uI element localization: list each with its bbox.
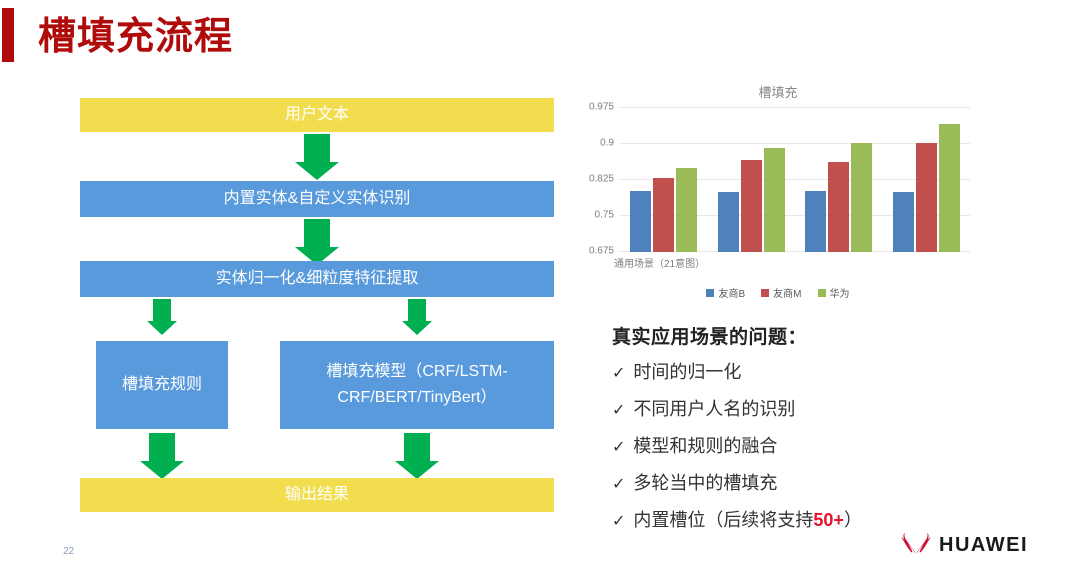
flow-node-output: 输出结果 [80, 478, 554, 512]
flow-arrow-down-4-right [395, 299, 439, 337]
flow-node-label: 槽填充规则 [122, 374, 202, 396]
chart-legend-item[interactable]: 友商B [706, 285, 745, 300]
chart-legend-label: 华为 [830, 285, 850, 300]
brand-wordmark: HUAWEI [939, 534, 1028, 557]
chart-bar-group [795, 108, 883, 252]
issue-item-label: 不同用户人名的识别 [633, 396, 795, 422]
chart-bar [630, 191, 651, 252]
slot-filling-bar-chart: 槽填充 0.9750.90.8250.750.675 通用场景（21意图） 友商… [578, 82, 978, 300]
issue-list-item: ✓时间的归一化 [612, 359, 1042, 387]
page-number: 22 [63, 546, 74, 557]
flowchart-diagram: 用户文本 内置实体&自定义实体识别 实体归一化&细粒度特征提取 槽填充规则 槽填… [0, 0, 570, 573]
chart-bar-group [708, 108, 796, 252]
issue-list-item: ✓不同用户人名的识别 [612, 396, 1042, 424]
chart-legend-label: 友商M [773, 285, 801, 300]
chart-bar [828, 162, 849, 252]
flow-node-entity-recognition: 内置实体&自定义实体识别 [80, 181, 554, 217]
flow-arrow-down-3-left [140, 299, 184, 337]
issue-item-label: 时间的归一化 [633, 359, 741, 385]
check-icon: ✓ [612, 509, 625, 535]
issue-list-item: ✓模型和规则的融合 [612, 433, 1042, 461]
chart-title: 槽填充 [578, 82, 978, 101]
chart-bar [676, 168, 697, 252]
chart-bar [916, 143, 937, 252]
chart-bar [653, 178, 674, 252]
flow-node-label: 输出结果 [285, 484, 349, 506]
check-icon: ✓ [612, 361, 625, 387]
brand-logo: HUAWEI [901, 532, 1028, 559]
check-icon: ✓ [612, 398, 625, 424]
flow-node-label: 槽填充模型（CRF/LSTM-CRF/BERT/TinyBert） [286, 359, 548, 411]
chart-plot-area: 0.9750.90.8250.750.675 [620, 108, 970, 252]
issues-list: ✓时间的归一化✓不同用户人名的识别✓模型和规则的融合✓多轮当中的槽填充✓内置槽位… [612, 359, 1042, 535]
flow-arrow-down-5-left [136, 433, 188, 479]
huawei-flower-icon [901, 532, 931, 559]
chart-bar [851, 143, 872, 252]
flow-node-normalization: 实体归一化&细粒度特征提取 [80, 261, 554, 297]
chart-bar [939, 124, 960, 252]
chart-bar-group [883, 108, 971, 252]
slide-canvas: 槽填充流程 用户文本 内置实体&自定义实体识别 实体归一化&细粒度特征提取 槽填… [0, 0, 1074, 573]
chart-legend-item[interactable]: 华为 [818, 285, 850, 300]
flow-node-slot-rules: 槽填充规则 [96, 341, 228, 429]
issue-highlight: 50+ [813, 510, 844, 530]
issues-heading: 真实应用场景的问题： [612, 322, 1042, 349]
chart-legend-item[interactable]: 友商M [761, 285, 801, 300]
chart-bar [764, 148, 785, 252]
flow-node-label: 内置实体&自定义实体识别 [224, 188, 411, 210]
flow-arrow-down-1 [291, 134, 343, 182]
chart-legend-swatch [706, 289, 714, 297]
chart-y-tick-label: 0.825 [589, 174, 614, 185]
chart-bar [718, 192, 739, 252]
issue-item-label: 多轮当中的槽填充 [633, 470, 777, 496]
chart-bar [741, 160, 762, 252]
check-icon: ✓ [612, 435, 625, 461]
flow-node-label: 实体归一化&细粒度特征提取 [216, 268, 419, 290]
chart-y-tick-label: 0.75 [595, 210, 614, 221]
chart-legend-label: 友商B [718, 285, 745, 300]
chart-bar [805, 191, 826, 252]
issue-item-label: 内置槽位（后续将支持50+） [633, 507, 862, 533]
flow-node-label: 用户文本 [285, 104, 349, 126]
real-world-issues-panel: 真实应用场景的问题： ✓时间的归一化✓不同用户人名的识别✓模型和规则的融合✓多轮… [612, 322, 1042, 544]
flow-arrow-down-2 [291, 219, 343, 267]
check-icon: ✓ [612, 472, 625, 498]
issue-list-item: ✓内置槽位（后续将支持50+） [612, 507, 1042, 535]
chart-x-axis-label: 通用场景（21意图） [614, 255, 705, 270]
chart-y-tick-label: 0.9 [600, 138, 614, 149]
issue-item-label: 模型和规则的融合 [633, 433, 777, 459]
chart-bar-group [620, 108, 708, 252]
chart-y-tick-label: 0.975 [589, 102, 614, 113]
chart-legend-swatch [761, 289, 769, 297]
flow-node-user-text: 用户文本 [80, 98, 554, 132]
chart-legend-swatch [818, 289, 826, 297]
issue-list-item: ✓多轮当中的槽填充 [612, 470, 1042, 498]
chart-legend: 友商B友商M华为 [578, 285, 978, 300]
chart-bars-layer [620, 108, 970, 252]
chart-bar [893, 192, 914, 252]
flow-node-slot-model: 槽填充模型（CRF/LSTM-CRF/BERT/TinyBert） [280, 341, 554, 429]
chart-y-tick-label: 0.675 [589, 246, 614, 257]
flow-arrow-down-6-right [391, 433, 443, 479]
